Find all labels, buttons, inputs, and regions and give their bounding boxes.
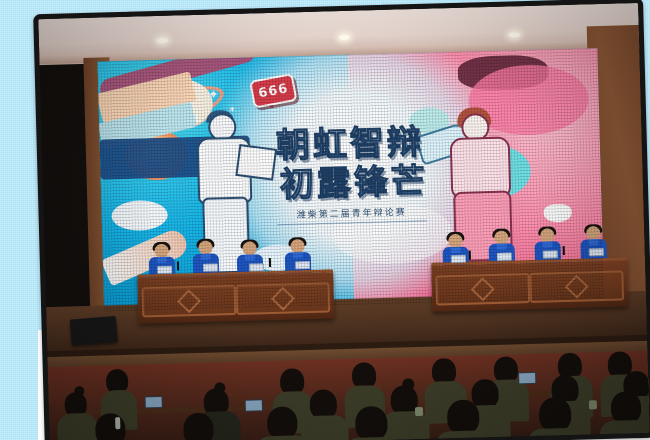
water-bottle (115, 417, 120, 429)
audience-head (267, 406, 298, 439)
debater-collar (245, 254, 255, 260)
podium-diamond-ornament (471, 277, 495, 301)
podium-diamond-ornament (271, 287, 295, 311)
audience-head (447, 399, 480, 434)
nameplate (203, 263, 218, 271)
audience-head (95, 413, 126, 440)
debater-collar (451, 247, 461, 253)
stage-speaker-box (70, 316, 118, 346)
audience-body (528, 428, 585, 440)
sparkle-icon: ✦ (208, 88, 218, 100)
debater-collar (157, 257, 167, 263)
debater-collar (588, 239, 598, 245)
poster-title-block: 朝虹智辩 初露锋芒 潍柴第二届青年辩论赛 (234, 123, 467, 226)
auditorium-debate-photo: ✦ ✦ ✦ (33, 0, 650, 440)
microphone (269, 258, 271, 267)
podium-panel (142, 285, 237, 318)
audience-body (300, 415, 349, 440)
podium-diamond-ornament (565, 275, 589, 299)
debater-collar (542, 241, 552, 247)
audience-head (611, 391, 642, 424)
audience-body (599, 420, 649, 440)
podium-right (431, 257, 628, 311)
laptop (245, 399, 263, 411)
nameplate (249, 263, 264, 271)
podium-panel (529, 270, 624, 303)
badge-666-label: 666 (257, 81, 289, 101)
nameplate (295, 261, 310, 269)
nameplate (497, 252, 512, 260)
laptop (518, 372, 536, 384)
cup (589, 400, 597, 409)
audience-head (183, 413, 214, 440)
audience-body (57, 413, 98, 440)
poster-subtitle: 潍柴第二届青年辩论赛 (237, 203, 467, 222)
audience-head (539, 397, 572, 432)
podium-panel (235, 282, 330, 315)
podium-panel (435, 273, 530, 306)
nameplate (157, 266, 172, 274)
debater-collar (201, 254, 211, 260)
debater-collar (497, 244, 507, 250)
debater-collar (293, 252, 303, 258)
microphone (177, 261, 179, 270)
nameplate (451, 255, 466, 263)
poster-title-line-1: 朝虹智辩 (234, 123, 465, 165)
cup (415, 407, 423, 416)
nameplate (543, 250, 558, 258)
microphone (469, 251, 471, 260)
audience-body (436, 430, 493, 440)
microphone (563, 246, 565, 255)
image-canvas: ✦ ✦ ✦ (0, 0, 650, 440)
poster-title-line-2: 初露锋芒 (241, 161, 466, 205)
podium-diamond-ornament (177, 289, 201, 313)
nameplate (589, 248, 604, 256)
photo-content: ✦ ✦ ✦ (38, 3, 649, 440)
audience-head (355, 406, 388, 440)
podium-left (137, 269, 334, 323)
audience-body (381, 411, 430, 440)
laptop (145, 396, 163, 408)
